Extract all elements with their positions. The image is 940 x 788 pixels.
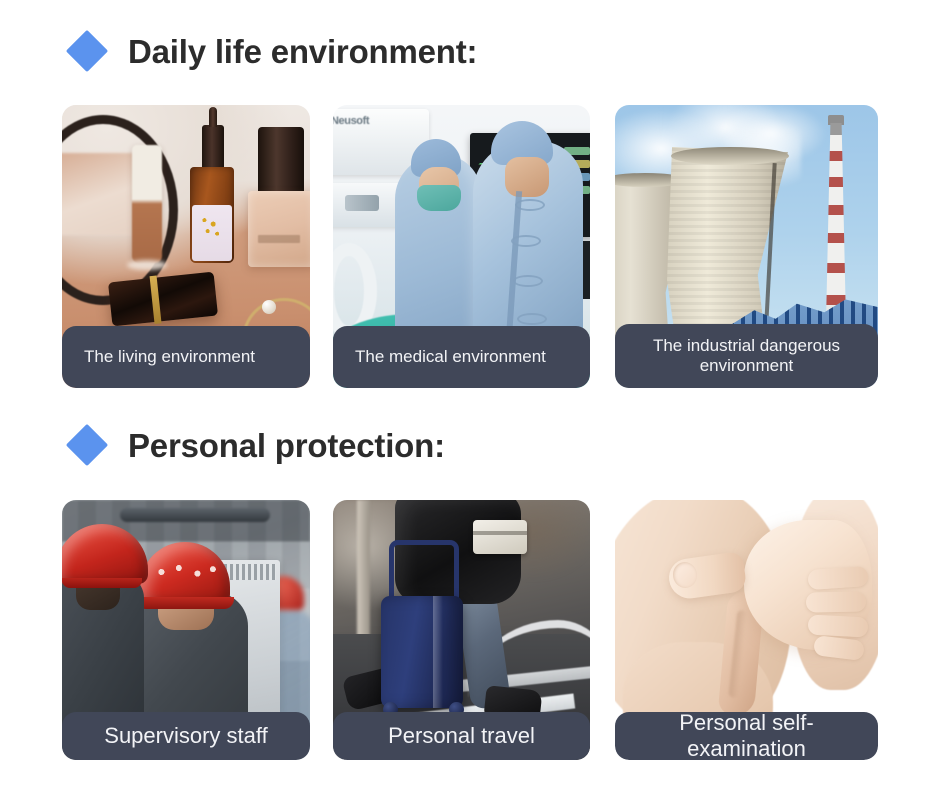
card-caption-text: Supervisory staff (104, 723, 267, 749)
card-personal-travel[interactable]: Personal travel (333, 500, 590, 760)
blue-diamond-icon (66, 424, 108, 466)
card-industrial-environment[interactable]: The industrial dangerous environment (615, 105, 878, 388)
card-caption-bar: Personal self-examination (615, 712, 878, 760)
card-caption-bar: The industrial dangerous environment (615, 324, 878, 388)
promo-feature-page: Daily life environment: The living envir… (0, 0, 940, 788)
section-title: Personal protection: (128, 429, 445, 462)
blue-diamond-icon (66, 30, 108, 72)
card-medical-environment[interactable]: Neusoft (333, 105, 590, 388)
card-caption-text: The living environment (84, 347, 255, 367)
card-caption-bar: The living environment (62, 326, 310, 388)
card-caption-bar: Personal travel (333, 712, 590, 760)
section-title: Daily life environment: (128, 35, 477, 68)
section-heading-personal-protection: Personal protection: (72, 422, 445, 468)
card-caption-bar: The medical environment (333, 326, 590, 388)
card-caption-text: The industrial dangerous environment (627, 336, 866, 376)
card-caption-text: Personal travel (388, 723, 535, 749)
card-caption-text: The medical environment (355, 347, 546, 367)
card-caption-text: Personal self-examination (627, 710, 866, 760)
card-caption-bar: Supervisory staff (62, 712, 310, 760)
section-heading-daily-life: Daily life environment: (72, 28, 477, 74)
card-supervisory-staff[interactable]: Supervisory staff (62, 500, 310, 760)
card-personal-self-examination[interactable]: Personal self-examination (615, 500, 878, 760)
card-living-environment[interactable]: The living environment (62, 105, 310, 388)
